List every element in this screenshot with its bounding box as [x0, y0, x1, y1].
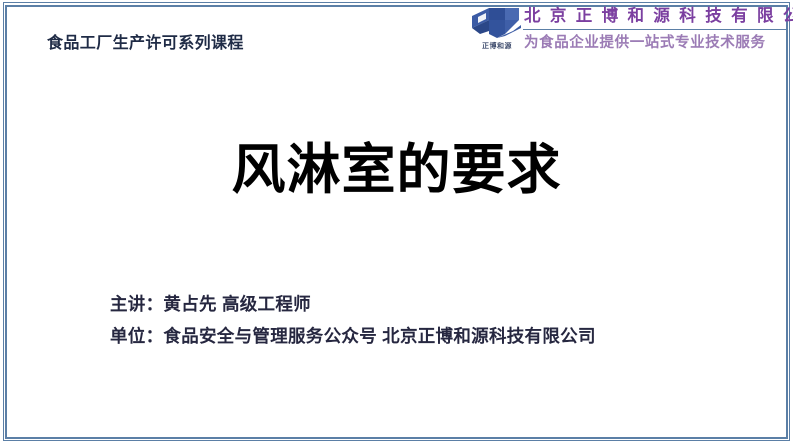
presenter-info: 主讲：黄占先 高级工程师 单位：食品安全与管理服务公众号 北京正博和源科技有限公…	[110, 288, 730, 352]
presentation-slide: 食品工厂生产许可系列课程 正博和源 北 京 正 博 和 源 科 技 有 限 公 …	[0, 0, 793, 446]
course-series-label: 食品工厂生产许可系列课程	[47, 29, 244, 53]
slide-main-title: 风淋室的要求	[0, 139, 793, 201]
company-name: 北 京 正 博 和 源 科 技 有 限 公 司	[523, 4, 786, 29]
presenter-organization-line: 单位：食品安全与管理服务公众号 北京正博和源科技有限公司	[110, 320, 730, 352]
company-logo: 正博和源	[466, 5, 528, 59]
company-lockup: 正博和源 北 京 正 博 和 源 科 技 有 限 公 司 为食品企业提供一站式专…	[466, 4, 786, 62]
company-tagline: 为食品企业提供一站式专业技术服务	[523, 30, 786, 54]
presenter-speaker-line: 主讲：黄占先 高级工程师	[110, 288, 730, 320]
company-logo-subtext: 正博和源	[466, 41, 528, 51]
slide-header: 食品工厂生产许可系列课程 正博和源 北 京 正 博 和 源 科 技 有 限 公 …	[0, 0, 793, 72]
company-text-block: 北 京 正 博 和 源 科 技 有 限 公 司 为食品企业提供一站式专业技术服务	[523, 4, 786, 54]
zhengbo-heyuan-z-logo-icon	[469, 5, 525, 41]
